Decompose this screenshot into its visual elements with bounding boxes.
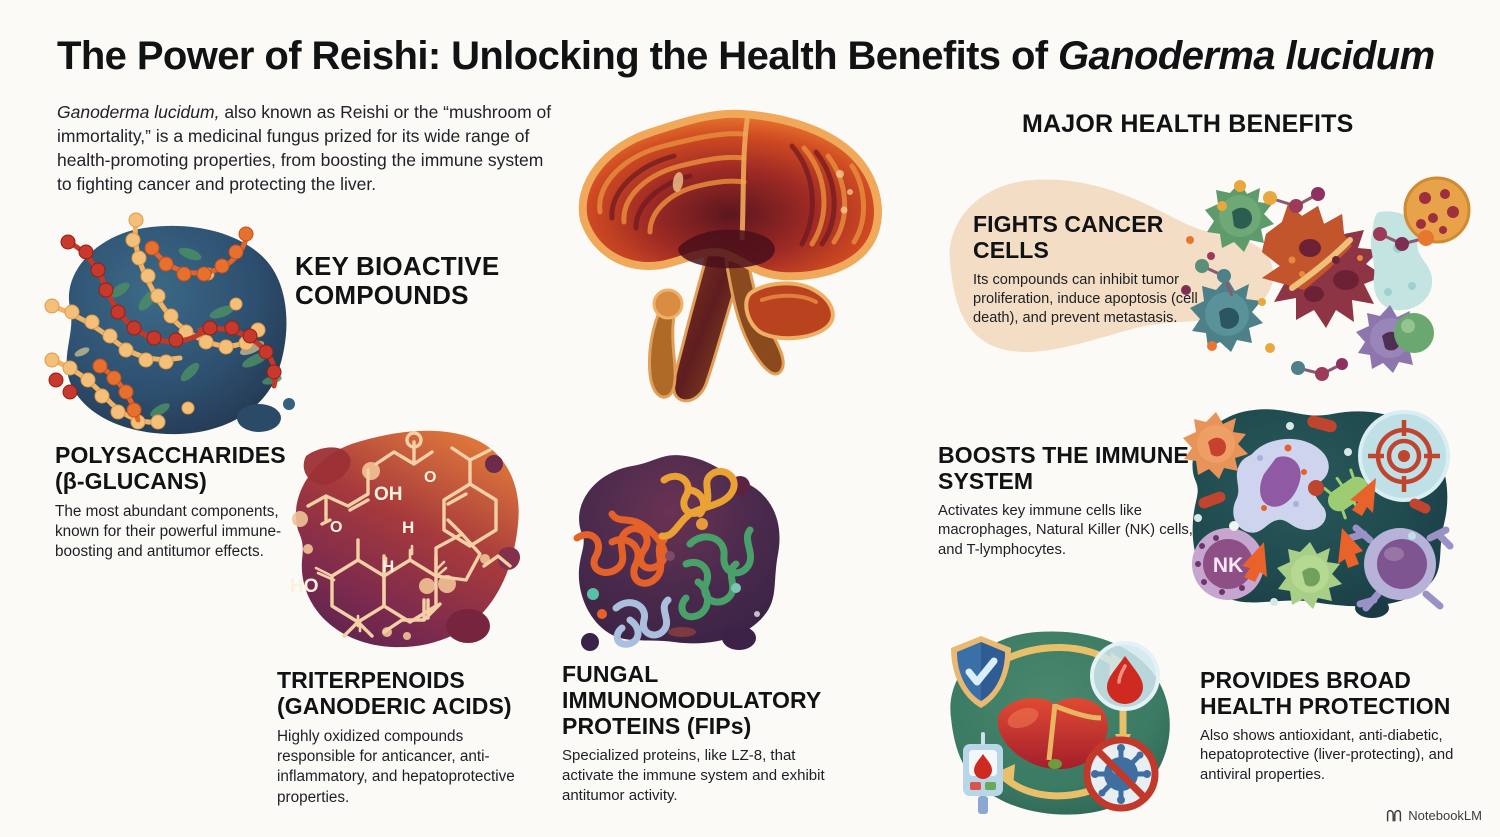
major-benefits-heading: MAJOR HEALTH BENEFITS xyxy=(1022,110,1442,138)
immune-system-illustration: NK xyxy=(1172,396,1472,618)
notebooklm-logo-icon xyxy=(1386,809,1402,823)
benefit-body: Also shows antioxidant, anti-diabetic, h… xyxy=(1200,727,1470,786)
molecule-label-ho: HO xyxy=(290,576,319,597)
molecule-label-oh: OH xyxy=(374,484,403,505)
intro-species: Ganoderma lucidum, xyxy=(57,102,219,122)
fip-protein-illustration xyxy=(552,446,802,666)
compound-title: POLYSACCHARIDES (β-GLUCANS) xyxy=(55,443,285,495)
benefit-title: FIGHTS CANCER CELLS xyxy=(973,212,1218,264)
compound-body: Highly oxidized compounds responsible fo… xyxy=(277,727,522,808)
benefit-body: Activates key immune cells like macropha… xyxy=(938,502,1203,561)
notebooklm-label: NotebookLM xyxy=(1408,808,1482,823)
blood-drop-icon xyxy=(1092,643,1158,709)
nk-cell-label: NK xyxy=(1213,554,1243,577)
infographic-canvas: The Power of Reishi: Unlocking the Healt… xyxy=(0,0,1500,837)
reishi-mushroom-illustration xyxy=(566,100,886,430)
compound-card-polysaccharides: POLYSACCHARIDES (β-GLUCANS) The most abu… xyxy=(55,443,285,563)
compound-title: TRITERPENOIDS (GANODERIC ACIDS) xyxy=(277,668,522,720)
compound-title: FUNGAL IMMUNOMODULATORY PROTEINS (FIPs) xyxy=(562,662,830,739)
benefit-card-fights-cancer: FIGHTS CANCER CELLS Its compounds can in… xyxy=(973,212,1218,329)
benefit-body: Its compounds can inhibit tumor prolifer… xyxy=(973,271,1218,329)
intro-paragraph: Ganoderma lucidum, also known as Reishi … xyxy=(57,100,557,197)
compound-card-fips: FUNGAL IMMUNOMODULATORY PROTEINS (FIPs) … xyxy=(562,662,830,806)
compound-body: The most abundant components, known for … xyxy=(55,502,285,563)
molecule-label-o-upper: O xyxy=(424,469,436,486)
health-protection-illustration xyxy=(925,622,1187,822)
glucose-meter-icon xyxy=(963,734,1003,814)
compound-card-triterpenoids: TRITERPENOIDS (GANODERIC ACIDS) Highly o… xyxy=(277,668,522,808)
benefit-card-protection: PROVIDES BROAD HEALTH PROTECTION Also sh… xyxy=(1200,668,1470,786)
molecule-label-h-upper: H xyxy=(402,518,414,537)
cancer-cell-cluster xyxy=(1181,178,1469,381)
key-compounds-heading: KEY BIOACTIVE COMPOUNDS xyxy=(295,252,555,310)
notebooklm-watermark: NotebookLM xyxy=(1386,808,1482,823)
molecule-label-o-left: O xyxy=(330,519,342,536)
page-title: The Power of Reishi: Unlocking the Healt… xyxy=(57,33,1457,79)
molecule-label-h-lower: H xyxy=(382,557,394,576)
polysaccharide-illustration xyxy=(40,212,302,447)
benefit-title: PROVIDES BROAD HEALTH PROTECTION xyxy=(1200,668,1470,720)
benefit-card-immune: BOOSTS THE IMMUNE SYSTEM Activates key i… xyxy=(938,443,1203,561)
page-title-plain: The Power of Reishi: Unlocking the Healt… xyxy=(57,34,1058,78)
benefit-title: BOOSTS THE IMMUNE SYSTEM xyxy=(938,443,1203,495)
no-virus-icon xyxy=(1087,740,1155,808)
compound-body: Specialized proteins, like LZ-8, that ac… xyxy=(562,746,830,806)
page-title-species: Ganoderma lucidum xyxy=(1058,34,1435,78)
triterpenoid-illustration: OH HO H H O O xyxy=(272,420,528,662)
